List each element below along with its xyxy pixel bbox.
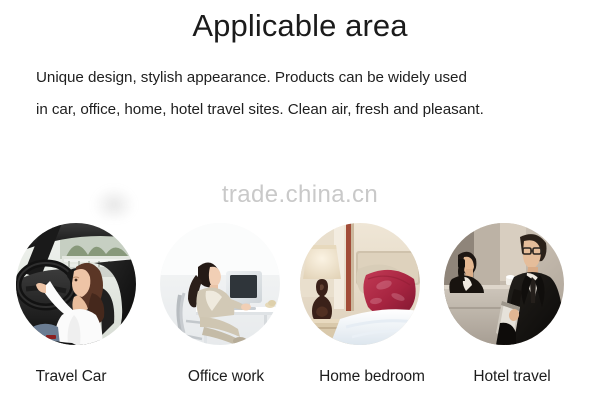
scene-captions: Travel Car Office work Home bedroom Hote…	[0, 366, 600, 394]
caption-travel-car: Travel Car	[0, 366, 151, 388]
watermark: trade.china.cn	[0, 182, 600, 208]
description-line-2: in car, office, home, hotel travel sites…	[36, 94, 578, 126]
caption-home-bedroom: Home bedroom	[292, 366, 452, 388]
page-title: Applicable area	[0, 6, 600, 46]
caption-office-work: Office work	[146, 366, 306, 388]
scene-home-bedroom-photo	[300, 223, 420, 345]
scene-office-work	[158, 222, 282, 346]
applicable-area-banner: Applicable area Unique design, stylish a…	[0, 0, 600, 410]
scene-travel-car-photo	[16, 223, 136, 345]
scene-home-bedroom	[298, 222, 422, 346]
scene-travel-car	[14, 222, 138, 346]
scene-hotel-travel-photo	[444, 223, 564, 345]
scene-office-work-photo	[160, 223, 280, 345]
caption-hotel-travel: Hotel travel	[432, 366, 592, 388]
description-text: Unique design, stylish appearance. Produ…	[36, 62, 578, 126]
scene-gallery	[0, 222, 600, 347]
description-line-1: Unique design, stylish appearance. Produ…	[36, 62, 578, 94]
scene-hotel-travel	[442, 222, 566, 346]
